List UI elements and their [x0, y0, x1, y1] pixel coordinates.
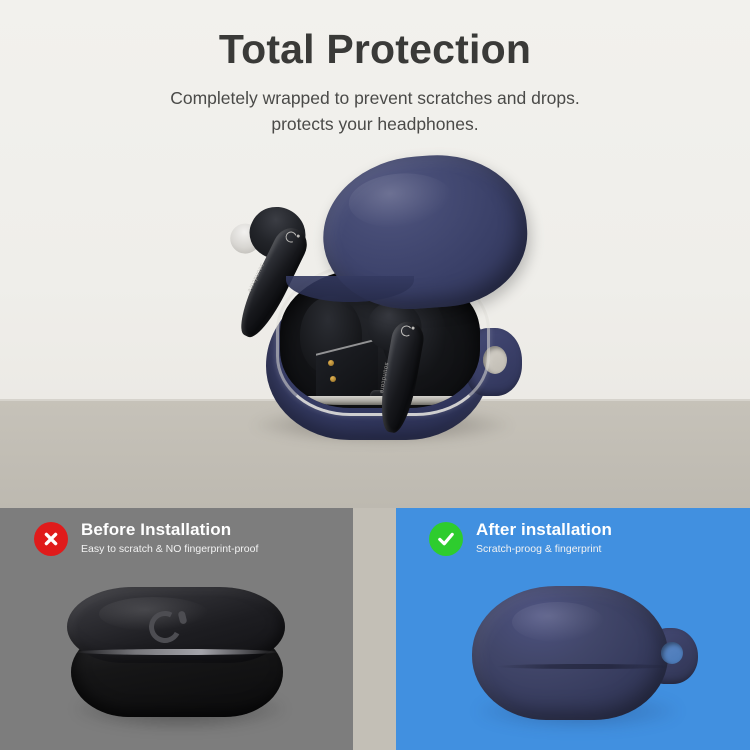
panel-after-installation: After installation Scratch-proog & finge… [396, 508, 750, 750]
panel-after-subtitle: Scratch-proog & fingerprint [476, 543, 612, 557]
panel-after-title: After installation [476, 520, 612, 540]
product-black-case [57, 583, 302, 733]
product-navy-case [456, 580, 706, 736]
hero-product-image: soundcore soundcore [228, 150, 528, 480]
page-subtitle: Completely wrapped to prevent scratches … [0, 72, 750, 138]
case-highlight [512, 602, 604, 642]
panel-after-header: After installation Scratch-proog & finge… [396, 520, 750, 557]
panel-before-installation: Before Installation Easy to scratch & NO… [0, 508, 353, 750]
case-seam-highlight [75, 649, 279, 655]
lid-highlight [347, 170, 455, 231]
panel-after-text: After installation Scratch-proog & finge… [476, 520, 612, 557]
comparison-panels: Before Installation Easy to scratch & NO… [0, 508, 750, 750]
case-seam-line [496, 664, 674, 669]
case-silicone-body [472, 586, 668, 720]
subtitle-line-1: Completely wrapped to prevent scratches … [170, 88, 580, 108]
panel-before-header: Before Installation Easy to scratch & NO… [0, 520, 353, 557]
x-circle-icon [34, 522, 68, 556]
check-circle-icon [429, 522, 463, 556]
panel-before-subtitle: Easy to scratch & NO fingerprint-proof [81, 543, 258, 557]
page-title: Total Protection [0, 0, 750, 72]
header-block: Total Protection Completely wrapped to p… [0, 0, 750, 138]
subtitle-line-2: protects your headphones. [271, 114, 478, 134]
panel-before-title: Before Installation [81, 520, 258, 540]
carabiner-hole [661, 642, 683, 664]
panel-before-text: Before Installation Easy to scratch & NO… [81, 520, 258, 557]
